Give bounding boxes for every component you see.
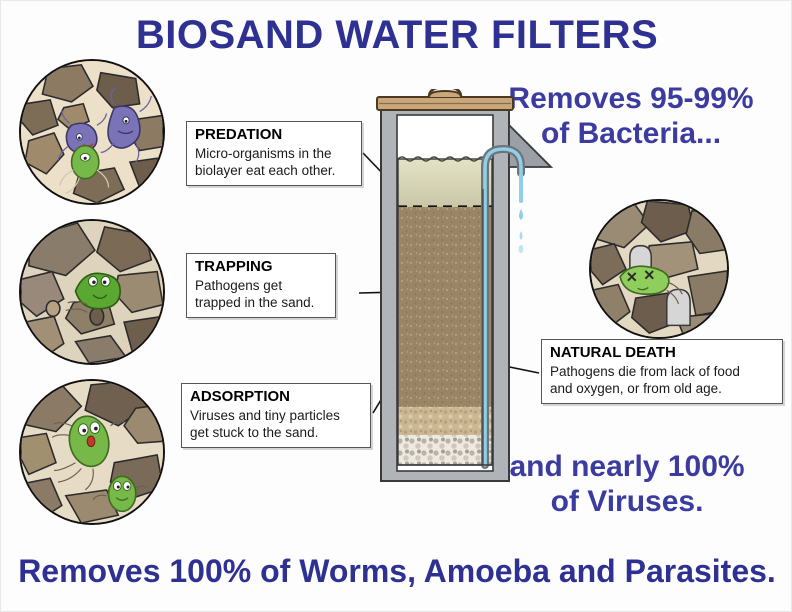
- callout-adsorption-line1: Viruses and tiny particles: [190, 407, 362, 424]
- callout-adsorption: ADSORPTION Viruses and tiny particles ge…: [181, 383, 371, 448]
- callout-trapping: TRAPPING Pathogens get trapped in the sa…: [186, 253, 336, 318]
- callout-predation-heading: PREDATION: [195, 127, 353, 144]
- callout-natural-death-heading: NATURAL DEATH: [550, 345, 774, 362]
- callout-adsorption-heading: ADSORPTION: [190, 389, 362, 406]
- biosand-filter-poster: BIOSAND WATER FILTERS: [0, 0, 792, 612]
- callout-adsorption-line2: get stuck to the sand.: [190, 424, 362, 441]
- callout-predation-line1: Micro-organisms in the: [195, 145, 353, 162]
- callout-trapping-heading: TRAPPING: [195, 259, 327, 276]
- callout-predation: PREDATION Micro-organisms in the biolaye…: [186, 121, 362, 186]
- callout-trapping-line1: Pathogens get: [195, 277, 327, 294]
- callout-natural-death: NATURAL DEATH Pathogens die from lack of…: [541, 339, 783, 404]
- callout-trapping-line2: trapped in the sand.: [195, 294, 327, 311]
- callout-natural-death-line1: Pathogens die from lack of food: [550, 363, 774, 380]
- callout-natural-death-line2: and oxygen, or from old age.: [550, 380, 774, 397]
- biosand-filter-cutaway: [373, 89, 563, 489]
- callout-predation-line2: biolayer eat each other.: [195, 162, 353, 179]
